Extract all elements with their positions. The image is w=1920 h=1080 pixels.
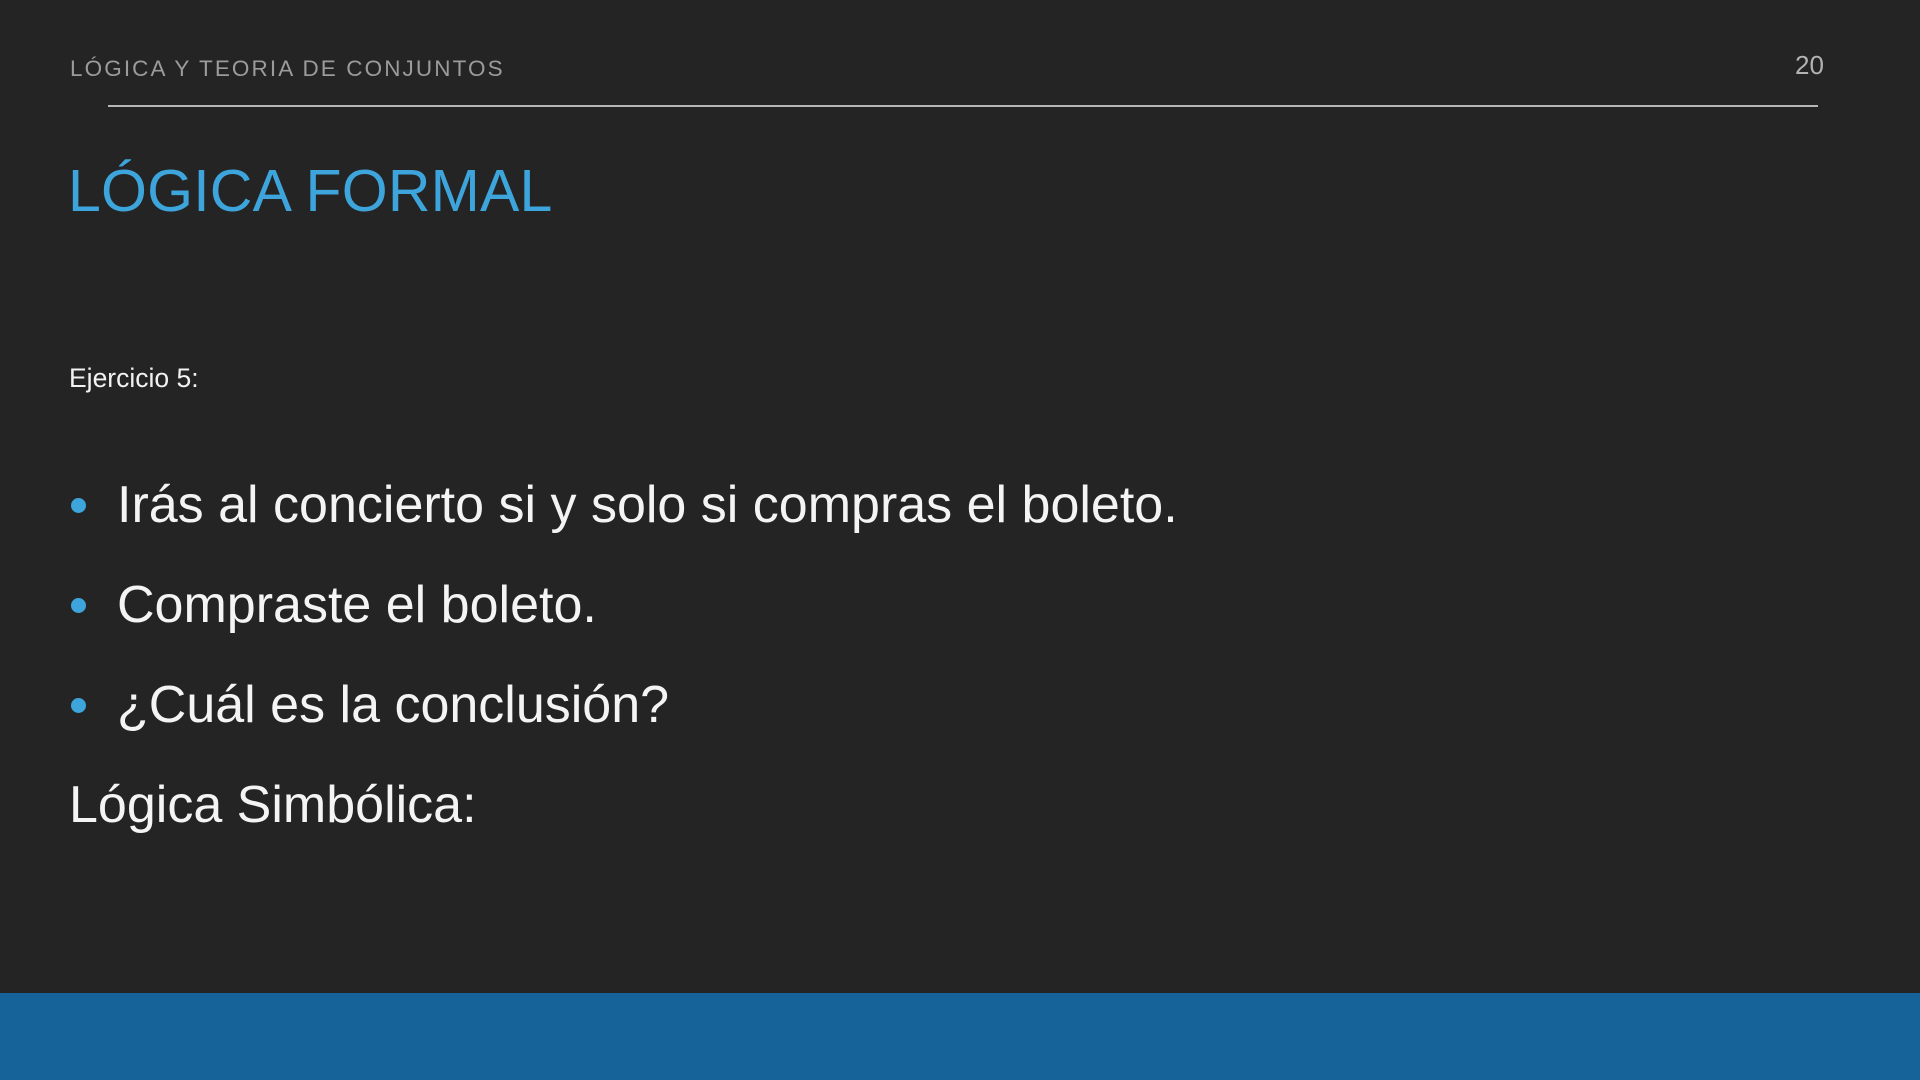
bullet-dot-icon [71,698,86,713]
bullet-dot-icon [71,598,86,613]
page-title: LÓGICA FORMAL [68,155,553,227]
list-item: Irás al concierto si y solo si compras e… [0,455,1860,555]
page-number: 20 [1795,50,1855,80]
header-section-title: LÓGICA Y TEORIA DE CONJUNTOS [70,56,505,82]
statement-list: Irás al concierto si y solo si compras e… [0,455,1860,755]
list-item-label: Irás al concierto si y solo si compras e… [117,476,1178,534]
slide-canvas: LÓGICA Y TEORIA DE CONJUNTOS 20 LÓGICA F… [0,0,1920,1080]
slide-header: LÓGICA Y TEORIA DE CONJUNTOS 20 [0,0,1920,110]
list-item: ¿Cuál es la conclusión? [0,655,1860,755]
list-item: Compraste el boleto. [0,555,1860,655]
header-divider-rule [108,105,1818,107]
footer-accent-bar [0,993,1920,1080]
symbolic-logic-label: Lógica Simbólica: [69,755,477,855]
list-item-label: Compraste el boleto. [117,576,597,634]
list-item-label: ¿Cuál es la conclusión? [117,676,669,734]
bullet-dot-icon [71,498,86,513]
exercise-label: Ejercicio 5: [69,361,199,395]
